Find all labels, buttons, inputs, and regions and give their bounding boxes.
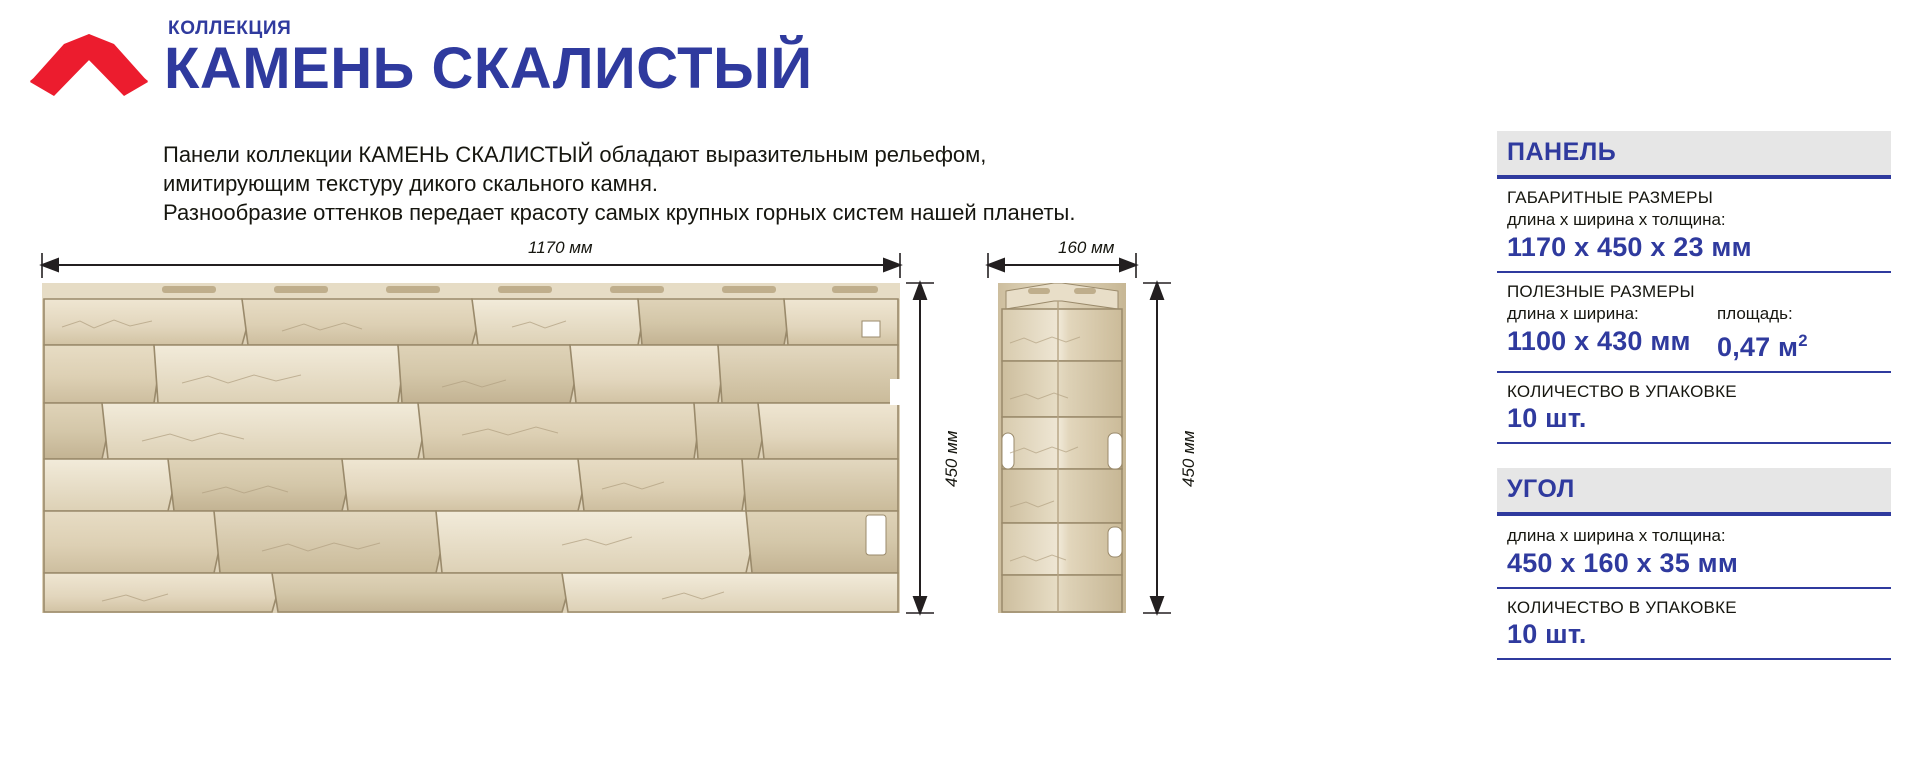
spec-corner-heading: УГОЛ [1507,475,1575,503]
spec-sub-overall: длина х ширина х толщина: [1507,208,1881,231]
spec-sub-useful-dims: длина х ширина: [1507,302,1717,325]
spec-caption-panel-qty: КОЛИЧЕСТВО В УПАКОВКЕ [1507,381,1881,402]
spec-value-panel-qty: 10 шт. [1507,402,1881,434]
spec-panel-heading: ПАНЕЛЬ [1507,138,1616,166]
product-spec-sheet: КОЛЛЕКЦИЯ КАМЕНЬ СКАЛИСТЫЙ Панели коллек… [0,0,1920,781]
corner-product-image [988,283,1136,613]
description-line-3: Разнообразие оттенков передает красоту с… [163,198,1075,227]
spec-value-overall: 1170 х 450 х 23 мм [1507,231,1881,263]
spec-section-gap [1497,444,1891,468]
spec-section-header-panel: ПАНЕЛЬ [1497,131,1891,179]
spec-value-area-exponent: 2 [1798,331,1808,350]
corner-width-dimension-label: 160 мм [1058,238,1114,258]
spec-row-corner-qty: КОЛИЧЕСТВО В УПАКОВКЕ 10 шт. [1497,589,1891,660]
spec-caption-useful: ПОЛЕЗНЫЕ РАЗМЕРЫ [1507,281,1881,302]
red-chevron-logo [30,34,148,96]
spec-value-corner-dims: 450 х 160 х 35 мм [1507,547,1881,579]
spec-value-useful-area: 0,47 м2 [1717,325,1881,363]
spec-caption-overall: ГАБАРИТНЫЕ РАЗМЕРЫ [1507,187,1881,208]
spec-section-header-corner: УГОЛ [1497,468,1891,516]
spec-row-panel-qty: КОЛИЧЕСТВО В УПАКОВКЕ 10 шт. [1497,373,1891,444]
spec-caption-corner-qty: КОЛИЧЕСТВО В УПАКОВКЕ [1507,597,1881,618]
panel-height-dimension-label: 450 мм [942,431,962,487]
spec-row-panel-overall: ГАБАРИТНЫЕ РАЗМЕРЫ длина х ширина х толщ… [1497,179,1891,273]
panel-width-dimension-label: 1170 мм [528,238,593,258]
description-line-2: имитирующим текстуру дикого скального ка… [163,169,1075,198]
page-title: КАМЕНЬ СКАЛИСТЫЙ [164,40,813,98]
corner-height-dimension-label: 450 мм [1179,431,1199,487]
spec-value-corner-qty: 10 шт. [1507,618,1881,650]
spec-value-area-number: 0,47 м [1717,332,1798,362]
collection-description: Панели коллекции КАМЕНЬ СКАЛИСТЫЙ облада… [163,140,1075,227]
spec-sub-useful-area: площадь: [1717,302,1881,325]
spec-row-corner-overall: длина х ширина х толщина: 450 х 160 х 35… [1497,516,1891,589]
spec-row-panel-useful: ПОЛЕЗНЫЕ РАЗМЕРЫ длина х ширина: 1100 х … [1497,273,1891,373]
spec-value-useful-dims: 1100 х 430 мм [1507,325,1717,357]
panel-product-image [42,283,900,613]
spec-sub-corner-dims: длина х ширина х толщина: [1507,524,1881,547]
description-line-1: Панели коллекции КАМЕНЬ СКАЛИСТЫЙ облада… [163,140,1075,169]
specifications-table: ПАНЕЛЬ ГАБАРИТНЫЕ РАЗМЕРЫ длина х ширина… [1497,131,1891,660]
